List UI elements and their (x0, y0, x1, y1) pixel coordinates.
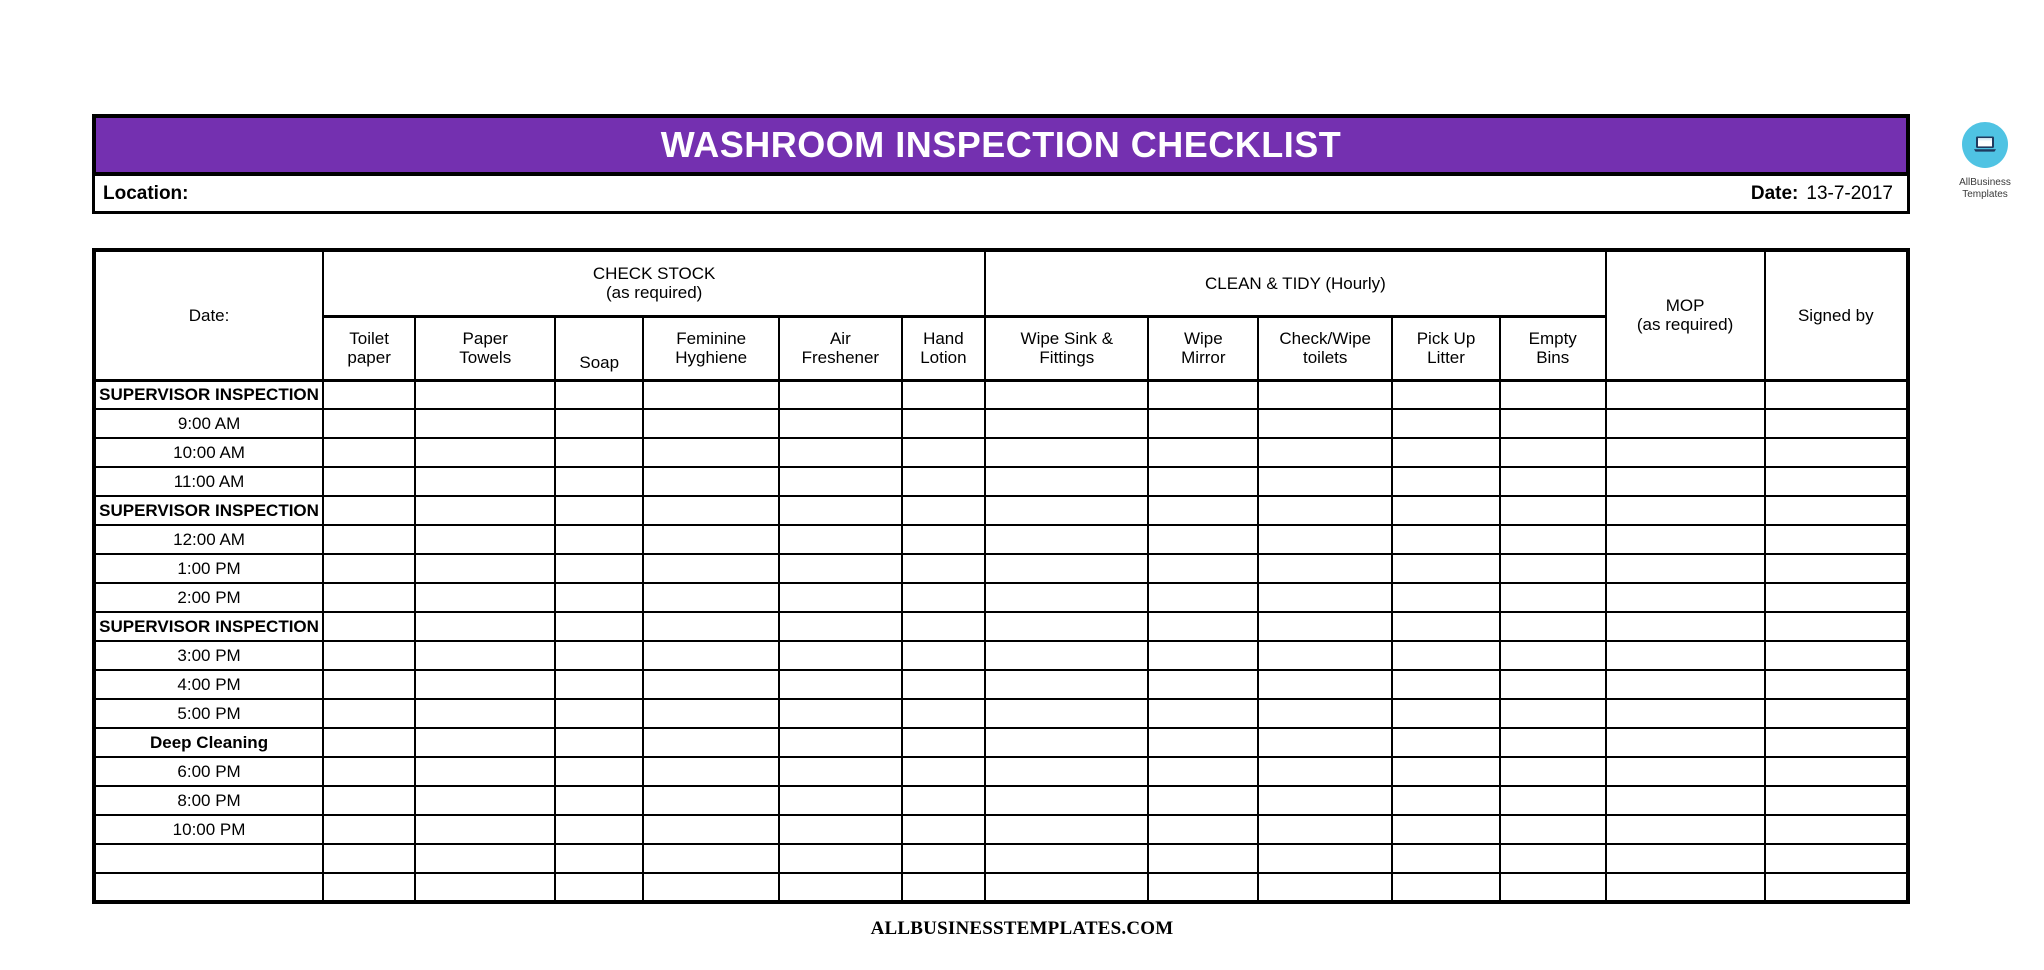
row-time-label: 1:00 PM (94, 554, 323, 583)
table-row: 12:00 AM (94, 525, 1908, 554)
checklist-entry-cell[interactable] (643, 583, 779, 612)
checklist-entry-cell[interactable] (1148, 699, 1258, 728)
checklist-entry-cell[interactable] (1765, 699, 1908, 728)
checklist-entry-cell[interactable] (1148, 815, 1258, 844)
brand-logo: AllBusiness Templates (1947, 122, 2023, 200)
sub-header-paper-towels-line1: Paper (416, 329, 554, 348)
checklist-entry-cell[interactable] (1500, 612, 1606, 641)
checklist-entry-cell[interactable] (1765, 467, 1908, 496)
checklist-entry-cell[interactable] (1500, 438, 1606, 467)
checklist-entry-cell[interactable] (643, 438, 779, 467)
checklist-entry-cell[interactable] (323, 525, 415, 554)
checklist-entry-cell[interactable] (323, 641, 415, 670)
table-group-header-row: Date: CHECK STOCK (as required) CLEAN & … (94, 250, 1908, 316)
row-time-label: 10:00 PM (94, 815, 323, 844)
checklist-entry-cell[interactable] (1258, 467, 1392, 496)
checklist-entry-cell[interactable] (902, 728, 986, 757)
row-section-label: SUPERVISOR INSPECTION (94, 612, 323, 641)
checklist-entry-cell[interactable] (1606, 728, 1765, 757)
table-row: 10:00 AM (94, 438, 1908, 467)
location-label: Location: (103, 184, 189, 203)
checklist-entry-cell[interactable] (1500, 786, 1606, 815)
checklist-entry-cell[interactable] (415, 409, 555, 438)
checklist-entry-cell[interactable] (902, 757, 986, 786)
checklist-entry-cell[interactable] (1258, 641, 1392, 670)
row-section-label: SUPERVISOR INSPECTION (94, 496, 323, 525)
checklist-entry-cell[interactable] (1765, 728, 1908, 757)
sub-header-hand-lotion: Hand Lotion (902, 316, 986, 380)
checklist-entry-cell[interactable] (555, 670, 643, 699)
checklist-entry-cell[interactable] (1148, 496, 1258, 525)
row-time-label: 2:00 PM (94, 583, 323, 612)
checklist-entry-cell[interactable] (323, 844, 415, 873)
checklist-entry-cell[interactable] (902, 786, 986, 815)
checklist-entry-cell[interactable] (555, 873, 643, 902)
checklist-entry-cell[interactable] (1258, 554, 1392, 583)
sub-header-soap: Soap (555, 316, 643, 380)
table-row: 3:00 PM (94, 641, 1908, 670)
checklist-entry-cell[interactable] (643, 786, 779, 815)
checklist-table: Date: CHECK STOCK (as required) CLEAN & … (92, 248, 1910, 904)
checklist-entry-cell[interactable] (1500, 815, 1606, 844)
checklist-entry-cell[interactable] (1606, 844, 1765, 873)
checklist-entry-cell[interactable] (415, 757, 555, 786)
checklist-entry-cell[interactable] (1392, 873, 1500, 902)
checklist-entry-cell[interactable] (902, 525, 986, 554)
checklist-entry-cell[interactable] (1606, 699, 1765, 728)
checklist-entry-cell[interactable] (985, 467, 1148, 496)
sub-header-wipe-sink-fittings-line2: Fittings (986, 348, 1147, 367)
checklist-entry-cell[interactable] (1500, 844, 1606, 873)
checklist-entry-cell[interactable] (415, 873, 555, 902)
checklist-entry-cell[interactable] (1606, 409, 1765, 438)
sub-header-check-wipe-toilets-line1: Check/Wipe (1259, 329, 1391, 348)
checklist-entry-cell[interactable] (1606, 554, 1765, 583)
checklist-entry-cell[interactable] (1765, 380, 1908, 409)
checklist-entry-cell[interactable] (1765, 670, 1908, 699)
checklist-entry-cell[interactable] (985, 699, 1148, 728)
checklist-entry-cell[interactable] (1148, 525, 1258, 554)
checklist-entry-cell[interactable] (902, 583, 986, 612)
checklist-entry-cell[interactable] (555, 554, 643, 583)
checklist-entry-cell[interactable] (985, 873, 1148, 902)
checklist-entry-cell[interactable] (1606, 380, 1765, 409)
checklist-entry-cell[interactable] (1392, 496, 1500, 525)
checklist-entry-cell[interactable] (1148, 409, 1258, 438)
checklist-entry-cell[interactable] (779, 612, 901, 641)
checklist-entry-cell[interactable] (779, 380, 901, 409)
checklist-entry-cell[interactable] (779, 757, 901, 786)
checklist-entry-cell[interactable] (1392, 699, 1500, 728)
checklist-entry-cell[interactable] (323, 670, 415, 699)
checklist-entry-cell[interactable] (1392, 815, 1500, 844)
checklist-entry-cell[interactable] (415, 380, 555, 409)
checklist-entry-cell[interactable] (1606, 641, 1765, 670)
checklist-entry-cell[interactable] (985, 380, 1148, 409)
table-row (94, 873, 1908, 902)
group-header-check-stock-line2: (as required) (324, 283, 984, 302)
checklist-entry-cell[interactable] (1258, 670, 1392, 699)
checklist-entry-cell[interactable] (415, 583, 555, 612)
sub-header-wipe-mirror: Wipe Mirror (1148, 316, 1258, 380)
laptop-icon (1973, 135, 1997, 153)
checklist-entry-cell[interactable] (643, 380, 779, 409)
checklist-entry-cell[interactable] (1258, 438, 1392, 467)
checklist-entry-cell[interactable] (643, 699, 779, 728)
checklist-entry-cell[interactable] (555, 844, 643, 873)
checklist-entry-cell[interactable] (1148, 757, 1258, 786)
checklist-entry-cell[interactable] (1765, 525, 1908, 554)
checklist-entry-cell[interactable] (902, 467, 986, 496)
checklist-entry-cell[interactable] (779, 583, 901, 612)
checklist-entry-cell[interactable] (1258, 873, 1392, 902)
row-section-label: SUPERVISOR INSPECTION (94, 380, 323, 409)
checklist-entry-cell[interactable] (1148, 728, 1258, 757)
date-label: Date: (1751, 184, 1799, 203)
checklist-entry-cell[interactable] (555, 409, 643, 438)
sub-header-pick-up-litter: Pick Up Litter (1392, 316, 1500, 380)
checklist-entry-cell[interactable] (1500, 757, 1606, 786)
checklist-entry-cell[interactable] (555, 583, 643, 612)
checklist-entry-cell[interactable] (779, 699, 901, 728)
group-header-signed-by: Signed by (1765, 250, 1908, 380)
checklist-entry-cell[interactable] (1258, 786, 1392, 815)
footer-brand: ALLBUSINESSTEMPLATES.COM (0, 918, 2044, 940)
checklist-entry-cell[interactable] (1148, 612, 1258, 641)
checklist-entry-cell[interactable] (1500, 409, 1606, 438)
sub-header-empty-bins-line2: Bins (1501, 348, 1605, 367)
checklist-entry-cell[interactable] (985, 641, 1148, 670)
group-header-clean-tidy: CLEAN & TIDY (Hourly) (985, 250, 1605, 316)
checklist-entry-cell[interactable] (643, 757, 779, 786)
checklist-entry-cell[interactable] (902, 409, 986, 438)
checklist-rows: SUPERVISOR INSPECTION9:00 AM10:00 AM11:0… (94, 380, 1908, 902)
checklist-entry-cell[interactable] (1500, 670, 1606, 699)
checklist-entry-cell[interactable] (1392, 670, 1500, 699)
checklist-entry-cell[interactable] (555, 757, 643, 786)
checklist-entry-cell[interactable] (1606, 757, 1765, 786)
checklist-entry-cell[interactable] (1392, 786, 1500, 815)
checklist-entry-cell[interactable] (1148, 641, 1258, 670)
checklist-entry-cell[interactable] (643, 844, 779, 873)
checklist-entry-cell[interactable] (902, 641, 986, 670)
checklist-entry-cell[interactable] (643, 670, 779, 699)
checklist-entry-cell[interactable] (323, 438, 415, 467)
checklist-entry-cell[interactable] (1765, 844, 1908, 873)
checklist-entry-cell[interactable] (1500, 380, 1606, 409)
checklist-entry-cell[interactable] (985, 815, 1148, 844)
checklist-entry-cell[interactable] (555, 815, 643, 844)
brand-logo-line2: Templates (1947, 189, 2023, 201)
sub-header-check-wipe-toilets-line2: toilets (1259, 348, 1391, 367)
checklist-entry-cell[interactable] (1392, 380, 1500, 409)
sub-header-feminine-hygiene-line2: Hyghiene (644, 348, 778, 367)
checklist-entry-cell[interactable] (323, 554, 415, 583)
checklist-entry-cell[interactable] (1765, 815, 1908, 844)
table-row: 11:00 AM (94, 467, 1908, 496)
checklist-entry-cell[interactable] (555, 467, 643, 496)
checklist-entry-cell[interactable] (985, 409, 1148, 438)
date-value[interactable]: 13-7-2017 (1806, 184, 1893, 203)
sub-header-empty-bins-line1: Empty (1501, 329, 1605, 348)
checklist-entry-cell[interactable] (643, 467, 779, 496)
checklist-entry-cell[interactable] (779, 438, 901, 467)
checklist-entry-cell[interactable] (1765, 409, 1908, 438)
checklist-entry-cell[interactable] (779, 728, 901, 757)
sub-header-wipe-mirror-line1: Wipe (1149, 329, 1257, 348)
sub-header-wipe-mirror-line2: Mirror (1149, 348, 1257, 367)
checklist-entry-cell[interactable] (1765, 612, 1908, 641)
checklist-entry-cell[interactable] (985, 728, 1148, 757)
sub-header-air-freshener: Air Freshener (779, 316, 901, 380)
checklist-entry-cell[interactable] (555, 641, 643, 670)
checklist-entry-cell[interactable] (1606, 525, 1765, 554)
checklist-entry-cell[interactable] (323, 496, 415, 525)
sub-header-air-freshener-line1: Air (780, 329, 900, 348)
row-time-label: 11:00 AM (94, 467, 323, 496)
checklist-entry-cell[interactable] (415, 844, 555, 873)
checklist-entry-cell[interactable] (1258, 728, 1392, 757)
checklist-entry-cell[interactable] (1392, 554, 1500, 583)
table-row: SUPERVISOR INSPECTION (94, 380, 1908, 409)
checklist-entry-cell[interactable] (643, 496, 779, 525)
checklist-entry-cell[interactable] (1148, 554, 1258, 583)
checklist-entry-cell[interactable] (323, 583, 415, 612)
checklist-entry-cell[interactable] (323, 380, 415, 409)
checklist-entry-cell[interactable] (643, 873, 779, 902)
checklist-entry-cell[interactable] (1392, 757, 1500, 786)
checklist-entry-cell[interactable] (779, 670, 901, 699)
row-time-label: 8:00 PM (94, 786, 323, 815)
checklist-entry-cell[interactable] (779, 641, 901, 670)
checklist-entry-cell[interactable] (985, 525, 1148, 554)
checklist-entry-cell[interactable] (323, 815, 415, 844)
checklist-entry-cell[interactable] (643, 612, 779, 641)
checklist-entry-cell[interactable] (902, 438, 986, 467)
checklist-entry-cell[interactable] (902, 380, 986, 409)
checklist-entry-cell[interactable] (1258, 612, 1392, 641)
checklist-entry-cell[interactable] (643, 728, 779, 757)
checklist-entry-cell[interactable] (323, 467, 415, 496)
checklist-entry-cell[interactable] (985, 438, 1148, 467)
checklist-entry-cell[interactable] (1606, 873, 1765, 902)
checklist-entry-cell[interactable] (415, 525, 555, 554)
location-date-bar: Location: Date: 13-7-2017 (92, 176, 1910, 214)
checklist-entry-cell[interactable] (1258, 699, 1392, 728)
brand-logo-line1: AllBusiness (1947, 177, 2023, 189)
checklist-entry-cell[interactable] (779, 467, 901, 496)
laptop-pin-icon (1962, 122, 2008, 174)
sub-header-pick-up-litter-line1: Pick Up (1393, 329, 1499, 348)
checklist-entry-cell[interactable] (1148, 786, 1258, 815)
row-time-label (94, 873, 323, 902)
sub-header-pick-up-litter-line2: Litter (1393, 348, 1499, 367)
checklist-entry-cell[interactable] (1148, 873, 1258, 902)
checklist-entry-cell[interactable] (1392, 467, 1500, 496)
sub-header-feminine-hygiene: Feminine Hyghiene (643, 316, 779, 380)
checklist-entry-cell[interactable] (1392, 583, 1500, 612)
checklist-entry-cell[interactable] (323, 612, 415, 641)
sub-header-paper-towels: Paper Towels (415, 316, 555, 380)
checklist-entry-cell[interactable] (779, 409, 901, 438)
checklist-entry-cell[interactable] (985, 670, 1148, 699)
group-header-check-stock-line1: CHECK STOCK (324, 264, 984, 283)
group-header-clean-tidy-line1: CLEAN & TIDY (Hourly) (986, 274, 1604, 293)
checklist-entry-cell[interactable] (1500, 525, 1606, 554)
title-banner: WASHROOM INSPECTION CHECKLIST (92, 114, 1910, 176)
checklist-entry-cell[interactable] (323, 873, 415, 902)
checklist-entry-cell[interactable] (1500, 554, 1606, 583)
row-time-label: 3:00 PM (94, 641, 323, 670)
checklist-entry-cell[interactable] (1765, 496, 1908, 525)
sub-header-wipe-sink-fittings-line1: Wipe Sink & (986, 329, 1147, 348)
checklist-entry-cell[interactable] (779, 844, 901, 873)
checklist-entry-cell[interactable] (415, 438, 555, 467)
checklist-entry-cell[interactable] (1765, 757, 1908, 786)
checklist-entry-cell[interactable] (985, 786, 1148, 815)
checklist-entry-cell[interactable] (1765, 641, 1908, 670)
checklist-entry-cell[interactable] (1765, 438, 1908, 467)
checklist-entry-cell[interactable] (1500, 728, 1606, 757)
checklist-entry-cell[interactable] (1606, 467, 1765, 496)
checklist-entry-cell[interactable] (902, 670, 986, 699)
checklist-entry-cell[interactable] (1148, 467, 1258, 496)
checklist-entry-cell[interactable] (643, 554, 779, 583)
checklist-entry-cell[interactable] (323, 699, 415, 728)
checklist-entry-cell[interactable] (415, 467, 555, 496)
checklist-entry-cell[interactable] (779, 815, 901, 844)
checklist-entry-cell[interactable] (555, 380, 643, 409)
checklist-entry-cell[interactable] (1392, 409, 1500, 438)
checklist-entry-cell[interactable] (555, 728, 643, 757)
checklist-entry-cell[interactable] (415, 554, 555, 583)
sub-header-toilet-paper-line2: paper (324, 348, 414, 367)
table-row: Deep Cleaning (94, 728, 1908, 757)
checklist-entry-cell[interactable] (985, 612, 1148, 641)
checklist-entry-cell[interactable] (1258, 380, 1392, 409)
checklist-entry-cell[interactable] (1148, 844, 1258, 873)
checklist-entry-cell[interactable] (1606, 438, 1765, 467)
checklist-entry-cell[interactable] (323, 409, 415, 438)
checklist-entry-cell[interactable] (323, 757, 415, 786)
checklist-entry-cell[interactable] (415, 612, 555, 641)
checklist-entry-cell[interactable] (1500, 699, 1606, 728)
checklist-entry-cell[interactable] (902, 554, 986, 583)
checklist-entry-cell[interactable] (1606, 670, 1765, 699)
checklist-entry-cell[interactable] (985, 844, 1148, 873)
checklist-entry-cell[interactable] (902, 815, 986, 844)
checklist-entry-cell[interactable] (415, 786, 555, 815)
checklist-entry-cell[interactable] (1500, 467, 1606, 496)
checklist-entry-cell[interactable] (643, 815, 779, 844)
checklist-entry-cell[interactable] (1765, 786, 1908, 815)
row-time-label: 4:00 PM (94, 670, 323, 699)
checklist-entry-cell[interactable] (643, 525, 779, 554)
checklist-entry-cell[interactable] (985, 757, 1148, 786)
checklist-entry-cell[interactable] (1606, 496, 1765, 525)
checklist-entry-cell[interactable] (1765, 873, 1908, 902)
checklist-entry-cell[interactable] (779, 786, 901, 815)
checklist-entry-cell[interactable] (1258, 583, 1392, 612)
checklist-entry-cell[interactable] (1500, 583, 1606, 612)
checklist-entry-cell[interactable] (1148, 380, 1258, 409)
checklist-entry-cell[interactable] (779, 496, 901, 525)
checklist-entry-cell[interactable] (415, 728, 555, 757)
checklist-entry-cell[interactable] (323, 728, 415, 757)
checklist-entry-cell[interactable] (1606, 815, 1765, 844)
checklist-entry-cell[interactable] (1392, 844, 1500, 873)
checklist-entry-cell[interactable] (779, 525, 901, 554)
checklist-entry-cell[interactable] (323, 786, 415, 815)
checklist-entry-cell[interactable] (1392, 525, 1500, 554)
checklist-entry-cell[interactable] (1258, 409, 1392, 438)
checklist-entry-cell[interactable] (985, 554, 1148, 583)
checklist-entry-cell[interactable] (779, 873, 901, 902)
checklist-entry-cell[interactable] (1606, 786, 1765, 815)
checklist-entry-cell[interactable] (1258, 525, 1392, 554)
checklist-entry-cell[interactable] (555, 525, 643, 554)
checklist-entry-cell[interactable] (555, 786, 643, 815)
checklist-entry-cell[interactable] (415, 670, 555, 699)
checklist-entry-cell[interactable] (555, 612, 643, 641)
checklist-entry-cell[interactable] (779, 554, 901, 583)
checklist-entry-cell[interactable] (902, 496, 986, 525)
brand-logo-text: AllBusiness Templates (1947, 177, 2023, 200)
checklist-entry-cell[interactable] (1148, 583, 1258, 612)
checklist-entry-cell[interactable] (985, 583, 1148, 612)
checklist-entry-cell[interactable] (1765, 583, 1908, 612)
checklist-entry-cell[interactable] (1765, 554, 1908, 583)
checklist-entry-cell[interactable] (1258, 496, 1392, 525)
checklist-entry-cell[interactable] (1500, 641, 1606, 670)
checklist-entry-cell[interactable] (1148, 438, 1258, 467)
checklist-entry-cell[interactable] (1392, 438, 1500, 467)
row-time-label (94, 844, 323, 873)
checklist-entry-cell[interactable] (555, 438, 643, 467)
checklist-entry-cell[interactable] (1606, 583, 1765, 612)
checklist-entry-cell[interactable] (643, 409, 779, 438)
checklist-entry-cell[interactable] (1500, 496, 1606, 525)
group-header-mop-line1: MOP (1607, 296, 1764, 315)
checklist-entry-cell[interactable] (643, 641, 779, 670)
checklist-entry-cell[interactable] (415, 641, 555, 670)
checklist-entry-cell[interactable] (985, 496, 1148, 525)
checklist-entry-cell[interactable] (1606, 612, 1765, 641)
checklist-entry-cell[interactable] (415, 699, 555, 728)
checklist-entry-cell[interactable] (1258, 844, 1392, 873)
checklist-table-body: Date: CHECK STOCK (as required) CLEAN & … (94, 250, 1908, 380)
checklist-entry-cell[interactable] (902, 873, 986, 902)
checklist-entry-cell[interactable] (1258, 815, 1392, 844)
checklist-entry-cell[interactable] (902, 699, 986, 728)
checklist-entry-cell[interactable] (1500, 873, 1606, 902)
checklist-entry-cell[interactable] (1392, 728, 1500, 757)
row-time-label: 6:00 PM (94, 757, 323, 786)
table-row: 10:00 PM (94, 815, 1908, 844)
checklist-entry-cell[interactable] (902, 844, 986, 873)
checklist-entry-cell[interactable] (415, 815, 555, 844)
checklist-entry-cell[interactable] (415, 496, 555, 525)
checklist-entry-cell[interactable] (1258, 757, 1392, 786)
checklist-entry-cell[interactable] (902, 612, 986, 641)
checklist-entry-cell[interactable] (1392, 641, 1500, 670)
checklist-entry-cell[interactable] (555, 496, 643, 525)
checklist-entry-cell[interactable] (1392, 612, 1500, 641)
header-date-cell: Date: (94, 250, 323, 380)
checklist-entry-cell[interactable] (1148, 670, 1258, 699)
checklist-entry-cell[interactable] (555, 699, 643, 728)
sub-header-toilet-paper: Toilet paper (323, 316, 415, 380)
